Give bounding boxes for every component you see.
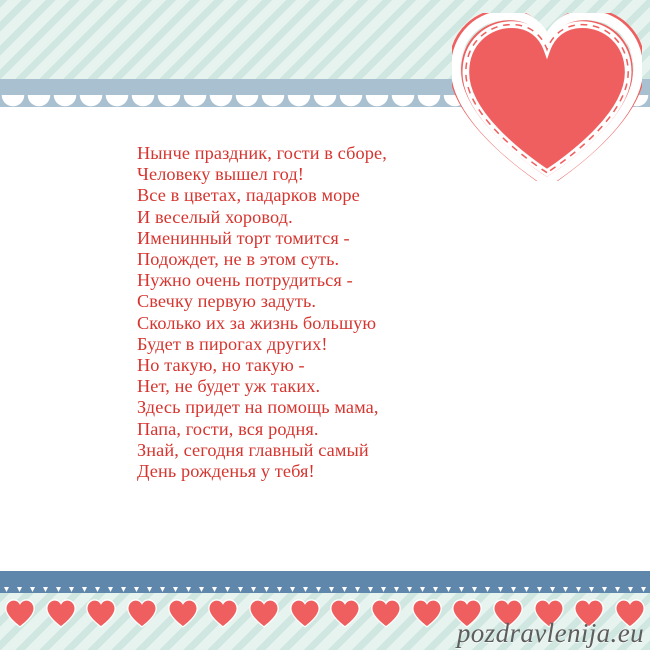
poem-text: Нынче праздник, гости в сборе, Человеку …: [137, 143, 437, 482]
poem-line: Именинный торт томится -: [137, 228, 437, 249]
poem-line: Свечку первую задуть.: [137, 291, 437, 312]
poem-line: Будет в пирогах других!: [137, 334, 437, 355]
poem-line: Но такую, но такую -: [137, 355, 437, 376]
poem-line: Нынче праздник, гости в сборе,: [137, 143, 437, 164]
poem-line: Здесь придет на помощь мама,: [137, 397, 437, 418]
heart-icon: [452, 13, 642, 181]
poem-line: Нет, не будет уж таких.: [137, 376, 437, 397]
poem-line: Сколько их за жизнь большую: [137, 313, 437, 334]
poem-line: Подождет, не в этом суть.: [137, 249, 437, 270]
greeting-card: Нынче праздник, гости в сборе, Человеку …: [0, 0, 650, 650]
bottom-blue-band: [0, 571, 650, 587]
poem-line: Знай, сегодня главный самый: [137, 440, 437, 461]
poem-line: День рожденья у тебя!: [137, 461, 437, 482]
poem-line: Нужно очень потрудиться -: [137, 270, 437, 291]
poem-line: Все в цветах, падарков море: [137, 185, 437, 206]
watermark-text: pozdravlenija.eu: [457, 618, 644, 649]
poem-line: Папа, гости, вся родня.: [137, 419, 437, 440]
poem-line: Человеку вышел год!: [137, 164, 437, 185]
poem-line: И веселый хоровод.: [137, 207, 437, 228]
